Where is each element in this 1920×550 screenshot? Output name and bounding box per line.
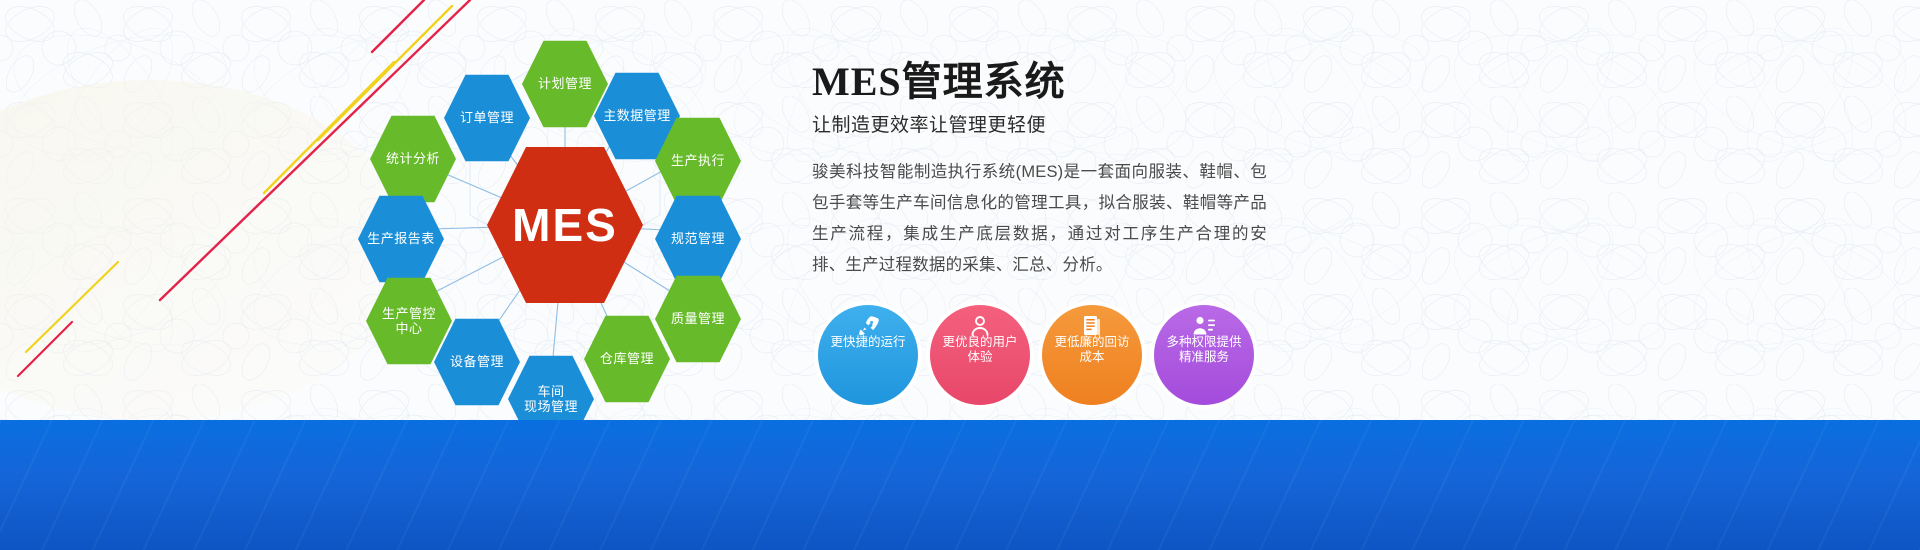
copy-block: MES管理系统 让制造更效率让管理更轻便 骏美科技智能制造执行系统(MES)是一… [812, 60, 1282, 281]
page-title: MES管理系统 [812, 60, 1282, 104]
hex-node-production-label: 生产执行 [671, 153, 725, 168]
page-subtitle: 让制造更效率让管理更轻便 [812, 110, 1282, 137]
hex-node-control-line2: 中心 [382, 321, 436, 336]
hex-node-standard-label: 规范管理 [671, 231, 725, 246]
hex-node-workshop-line2: 现场管理 [524, 399, 578, 414]
feature-badge-speed[interactable]: 更快捷的运行 [818, 305, 918, 405]
hex-node-masterdata-label: 主数据管理 [603, 108, 671, 123]
badge-access-line2: 精准服务 [1179, 350, 1229, 364]
badge-ux-line2: 体验 [967, 350, 992, 364]
feature-badge-ux[interactable]: 更优良的用户 体验 [930, 305, 1030, 405]
hex-node-workshop-label: 车间 现场管理 [524, 384, 578, 415]
hex-node-center-label: MES [512, 198, 618, 252]
hex-node-quality-label: 质量管理 [671, 311, 725, 326]
hex-node-order-label: 订单管理 [460, 110, 514, 125]
hex-node-equipment-label: 设备管理 [450, 354, 504, 369]
feature-badge-list: 更快捷的运行 更优良的用户 体验 [818, 305, 1254, 405]
hex-node-statistics-label: 统计分析 [386, 151, 440, 166]
description-paragraph: 骏美科技智能制造执行系统(MES)是一套面向服装、鞋帽、包包手套等生产车间信息化… [812, 157, 1267, 281]
user-icon [965, 311, 995, 341]
document-icon [1077, 311, 1107, 341]
hex-node-report-label: 生产报告表 [367, 231, 435, 246]
banner-stage: MES 计划管理 订单管理 统计分析 主数据管理 生产执行 规范管理 质量管理 … [0, 0, 1920, 550]
feature-badge-cost[interactable]: 更低廉的回访 成本 [1042, 305, 1142, 405]
hex-node-workshop-line1: 车间 [524, 384, 578, 399]
hex-node-plan-label: 计划管理 [538, 76, 592, 91]
badge-cost-line2: 成本 [1079, 350, 1104, 364]
users-icon [1189, 311, 1219, 341]
bottom-blue-band [0, 420, 1920, 550]
hex-node-control-label: 生产管控 中心 [382, 306, 436, 337]
mes-hexagon-diagram: MES 计划管理 订单管理 统计分析 主数据管理 生产执行 规范管理 质量管理 … [330, 10, 800, 430]
hex-node-control-line1: 生产管控 [382, 306, 436, 321]
rocket-icon [853, 311, 883, 341]
feature-badge-access[interactable]: 多种权限提供 精准服务 [1154, 305, 1254, 405]
hex-node-warehouse-label: 仓库管理 [600, 351, 654, 366]
